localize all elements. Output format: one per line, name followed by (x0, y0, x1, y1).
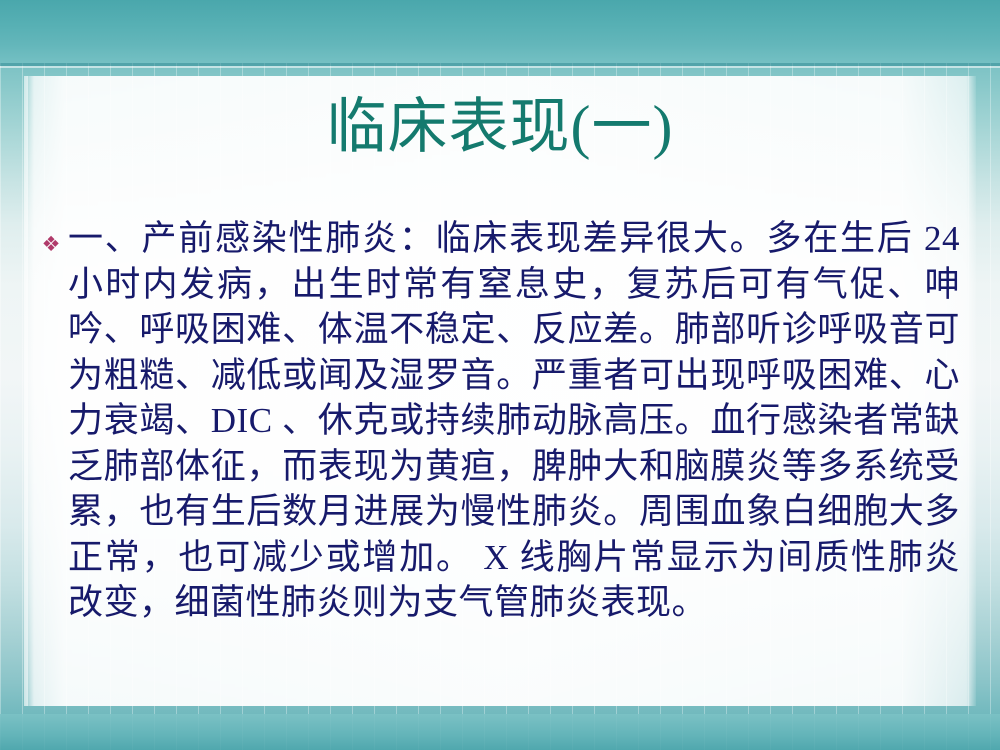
slide-body-text: 一、产前感染性肺炎：临床表现差异很大。多在生后 24 小时内发病，出生时常有窒息… (68, 216, 966, 626)
slide-panel-left-edge (24, 76, 28, 706)
slide-bottom-band (0, 714, 1000, 750)
diamond-bullet-icon: ❖ (34, 216, 68, 255)
bullet-list-item: ❖ 一、产前感染性肺炎：临床表现差异很大。多在生后 24 小时内发病，出生时常有… (34, 216, 966, 626)
slide-top-band (0, 0, 1000, 63)
slide-top-divider-highlight (0, 66, 1000, 68)
presentation-slide: 临床表现(一) ❖ 一、产前感染性肺炎：临床表现差异很大。多在生后 24 小时内… (0, 0, 1000, 750)
slide-title: 临床表现(一) (0, 96, 1000, 159)
